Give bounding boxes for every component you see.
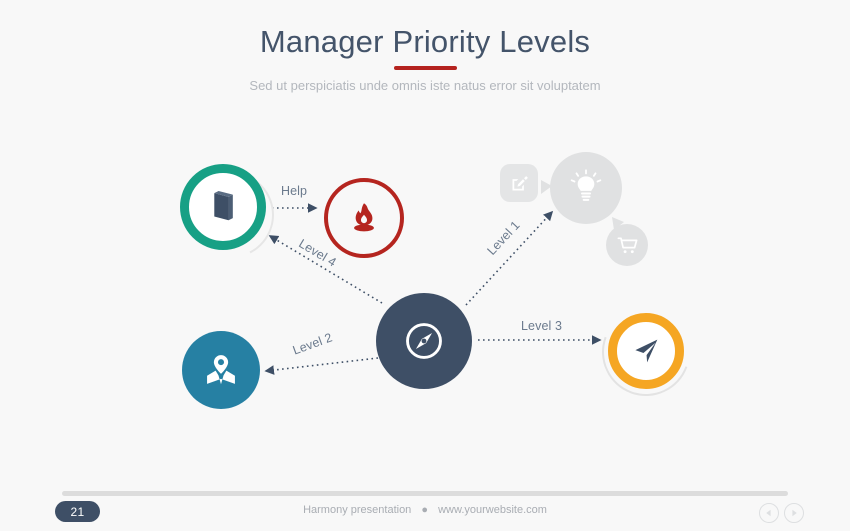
node-center-compass[interactable]: [376, 293, 472, 389]
compass-icon: [401, 318, 447, 364]
page-subtitle: Sed ut perspiciatis unde omnis iste natu…: [0, 77, 850, 95]
lightbulb-icon: [566, 168, 606, 208]
connector-label-level3: Level 3: [521, 319, 562, 333]
paper-plane-icon: [629, 334, 663, 368]
title-accent-rule: [394, 66, 457, 70]
page-title: Manager Priority Levels: [0, 22, 850, 62]
node-send[interactable]: [608, 313, 684, 389]
connector-lines: [0, 118, 850, 458]
node-lightbulb[interactable]: [550, 152, 622, 224]
node-edit[interactable]: [500, 164, 538, 202]
cart-icon: [616, 234, 639, 257]
slide: Manager Priority Levels Sed ut perspicia…: [0, 0, 850, 531]
book-icon: [204, 188, 242, 226]
presentation-name: Harmony presentation: [303, 504, 411, 516]
prev-slide-button[interactable]: [759, 503, 779, 523]
node-map[interactable]: [182, 331, 260, 409]
node-book[interactable]: [180, 164, 266, 250]
diagram-canvas: Help Level 4 Level 2 Level 3 Level 1: [0, 118, 850, 458]
footer-separator-dot: ●: [421, 504, 428, 516]
chevron-right-icon: [790, 509, 798, 517]
node-cart[interactable]: [606, 224, 648, 266]
map-pin-icon: [202, 351, 240, 389]
connector-label-help: Help: [281, 184, 307, 198]
website-link[interactable]: www.yourwebsite.com: [438, 504, 547, 516]
chevron-left-icon: [765, 509, 773, 517]
slide-header: Manager Priority Levels Sed ut perspicia…: [0, 22, 850, 95]
slide-navigation: [759, 503, 804, 523]
next-slide-button[interactable]: [784, 503, 804, 523]
connector-level2: [266, 358, 378, 371]
node-fire[interactable]: [324, 178, 404, 258]
flame-icon: [346, 200, 382, 236]
footer-credits: Harmony presentation ● www.yourwebsite.c…: [0, 504, 850, 516]
edit-icon: [509, 173, 530, 194]
footer-divider: [62, 491, 788, 496]
